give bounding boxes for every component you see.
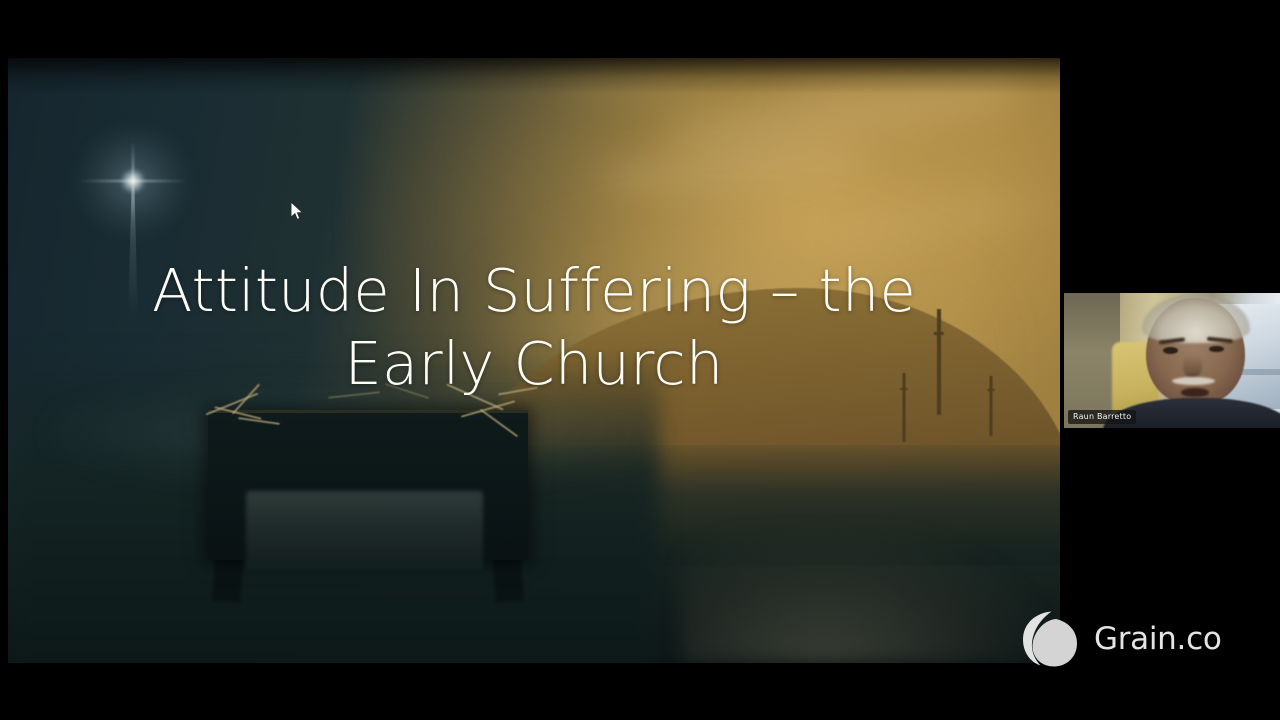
- slide-title: Attitude In Suffering – the Early Church: [8, 254, 1060, 400]
- participant-name-label: Raun Barretto: [1068, 410, 1136, 424]
- grain-watermark-label: Grain.co: [1094, 624, 1222, 655]
- manger-illustration: [208, 410, 528, 560]
- shared-screen-slide[interactable]: Attitude In Suffering – the Early Church: [8, 58, 1060, 663]
- star-core: [120, 168, 146, 194]
- manger-inner-panel: [246, 491, 483, 569]
- mouth: [1181, 388, 1209, 397]
- participant-video-tile[interactable]: Raun Barretto: [1064, 293, 1280, 428]
- mustache: [1172, 377, 1215, 385]
- slide-top-vignette: [8, 58, 1060, 94]
- foreground-rock: [681, 530, 1039, 663]
- eye: [1163, 347, 1178, 354]
- player-stage: Attitude In Suffering – the Early Church…: [0, 0, 1280, 720]
- grain-logo-icon: [1019, 608, 1081, 670]
- arrow-pointer-icon: [291, 202, 304, 221]
- nose: [1183, 355, 1202, 378]
- grain-watermark: Grain.co: [1019, 608, 1222, 670]
